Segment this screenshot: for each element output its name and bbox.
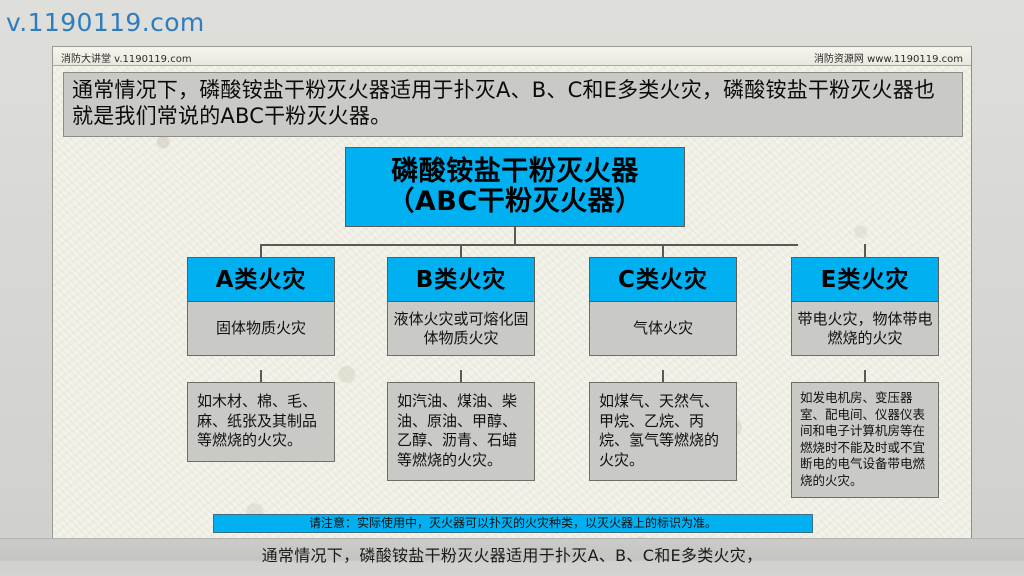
column-c-definition: 气体火灾 — [589, 302, 737, 356]
column-e-examples: 如发电机房、变压器室、配电间、仪器仪表间和电子计算机房等在燃烧时不能及时或不宜断… — [791, 382, 939, 498]
column-e-definition: 带电火灾，物体带电燃烧的火灾 — [791, 302, 939, 356]
column-e-header: E类火灾 — [791, 257, 939, 302]
site-watermark: v.1190119.com — [6, 8, 205, 37]
connector-stub-c — [662, 370, 664, 382]
connector-drop-b — [460, 244, 462, 258]
flow-diagram: 磷酸铵盐干粉灭火器 （ABC干粉灭火器） A类火灾 固体物质火灾 如木材、棉、毛… — [53, 47, 972, 576]
column-a-header: A类火灾 — [187, 257, 335, 302]
note-bar: 请注意：实际使用中，灭火器可以扑灭的火灾种类，以灭火器上的标识为准。 — [213, 514, 813, 533]
column-b-examples: 如汽油、煤油、柴油、原油、甲醇、乙醇、沥青、石蜡等燃烧的火灾。 — [387, 382, 535, 481]
slide-canvas: 消防大讲堂 v.1190119.com 消防资源网 www.1190119.co… — [52, 46, 972, 576]
root-node-line2: （ABC干粉灭火器） — [387, 187, 642, 217]
connector-stub-e — [864, 370, 866, 382]
column-a-examples: 如木材、棉、毛、麻、纸张及其制品等燃烧的火灾。 — [187, 382, 335, 462]
column-class-a: A类火灾 固体物质火灾 如木材、棉、毛、麻、纸张及其制品等燃烧的火灾。 — [187, 257, 335, 356]
column-class-c: C类火灾 气体火灾 如煤气、天然气、甲烷、乙烷、丙烷、氢气等燃烧的火灾。 — [589, 257, 737, 356]
page-background: v.1190119.com 消防大讲堂 v.1190119.com 消防资源网 … — [0, 0, 1024, 576]
column-a-definition: 固体物质火灾 — [187, 302, 335, 356]
column-b-definition: 液体火灾或可熔化固体物质火灾 — [387, 302, 535, 356]
connector-drop-a — [260, 244, 262, 258]
slide-inner: 消防大讲堂 v.1190119.com 消防资源网 www.1190119.co… — [53, 47, 971, 575]
column-c-header: C类火灾 — [589, 257, 737, 302]
column-class-b: B类火灾 液体火灾或可熔化固体物质火灾 如汽油、煤油、柴油、原油、甲醇、乙醇、沥… — [387, 257, 535, 356]
column-class-e: E类火灾 带电火灾，物体带电燃烧的火灾 如发电机房、变压器室、配电间、仪器仪表间… — [791, 257, 939, 356]
caption-strip: 通常情况下，磷酸铵盐干粉灭火器适用于扑灭A、B、C和E多类火灾， — [0, 538, 1024, 576]
root-node-abc-extinguisher: 磷酸铵盐干粉灭火器 （ABC干粉灭火器） — [345, 147, 685, 227]
connector-horizontal-bus — [260, 244, 798, 246]
column-c-examples: 如煤气、天然气、甲烷、乙烷、丙烷、氢气等燃烧的火灾。 — [589, 382, 737, 481]
column-b-header: B类火灾 — [387, 257, 535, 302]
connector-drop-c — [662, 244, 664, 258]
connector-drop-e — [864, 244, 866, 258]
connector-stub-b — [460, 370, 462, 382]
connector-stub-a — [260, 370, 262, 382]
connector-root-stem — [514, 227, 516, 245]
caption-text: 通常情况下，磷酸铵盐干粉灭火器适用于扑灭A、B、C和E多类火灾， — [0, 542, 1024, 566]
root-node-line1: 磷酸铵盐干粉灭火器 — [391, 157, 639, 187]
